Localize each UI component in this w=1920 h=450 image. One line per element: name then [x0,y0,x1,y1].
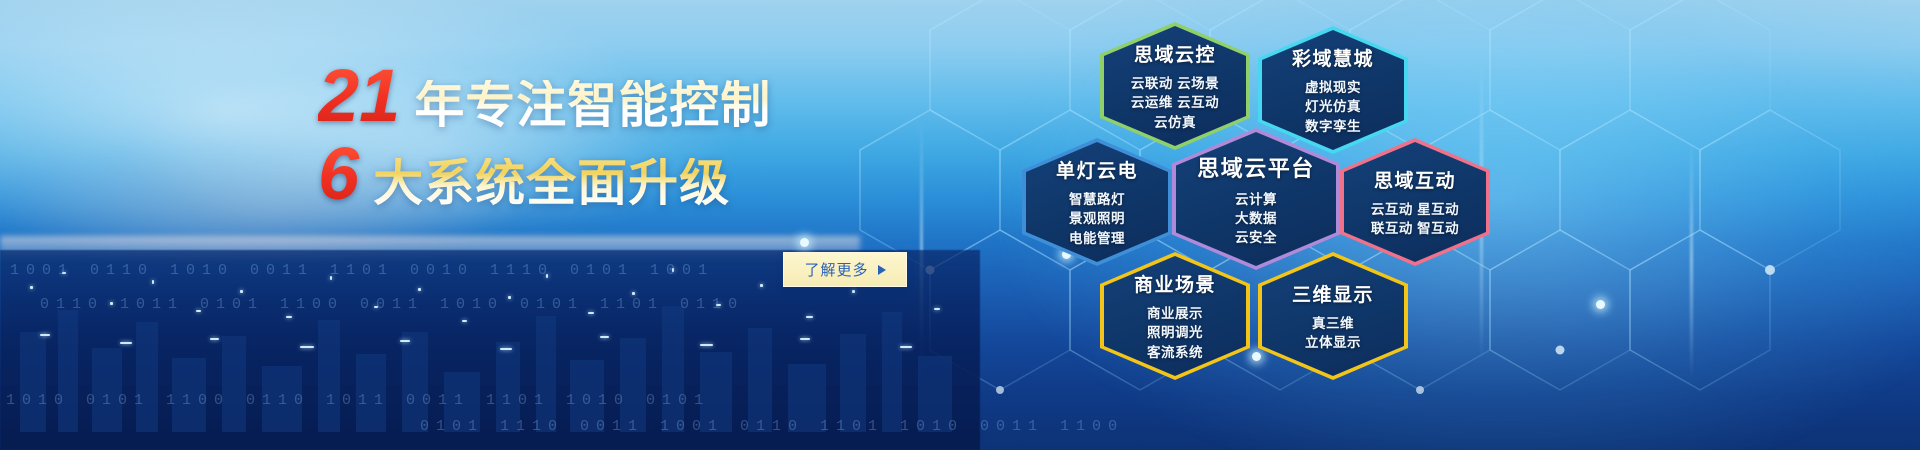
hexagon-subitem: 景观照明 [1069,209,1125,228]
hexagon-subitem: 大数据 [1235,209,1277,228]
promo-banner: 1001 0110 1010 0011 1101 0010 1110 0101 … [0,0,1920,450]
hexagon-title: 思域云平台 [1197,151,1315,183]
hexagon-subitem: 电能管理 [1069,229,1125,248]
hexagon-subitem: 云互动 星互动 [1371,200,1459,219]
hexagon-subitems: 云联动 云场景 云运维 云互动 云仿真 [1131,74,1219,131]
hexagon-title: 商业场景 [1134,270,1216,297]
hexagon-subitem: 商业展示 [1147,304,1203,323]
hexagon-title: 思域云控 [1134,40,1216,67]
hexagon-title: 三维显示 [1292,280,1374,307]
hexagon-subitem: 云计算 [1235,190,1277,209]
hexagon-subitems: 智慧路灯 景观照明 电能管理 [1069,190,1125,247]
hexagon-siyu-cloud-platform[interactable]: 思域云平台 云计算 大数据 云安全 [1172,128,1340,270]
hexagon-subitem: 云运维 云互动 [1131,93,1219,112]
hexagon-cluster: 思域云控 云联动 云场景 云运维 云互动 云仿真 彩域慧城 虚拟现实 灯光仿真 … [0,0,1920,450]
hexagon-subitem: 智慧路灯 [1069,190,1125,209]
hexagon-subitems: 云计算 大数据 云安全 [1235,190,1277,247]
hexagon-subitem: 真三维 [1305,314,1361,333]
hexagon-subitem: 虚拟现实 [1305,78,1361,97]
hexagon-subitem: 立体显示 [1305,333,1361,352]
hexagon-subitem: 联互动 智互动 [1371,219,1459,238]
hexagon-subitem: 云安全 [1235,228,1277,247]
hexagon-title: 单灯云电 [1056,156,1138,183]
hexagon-subitems: 真三维 立体显示 [1305,314,1361,352]
hexagon-title: 彩域慧城 [1292,44,1374,71]
hexagon-title: 思域互动 [1374,166,1456,193]
hexagon-single-lamp-cloud-power[interactable]: 单灯云电 智慧路灯 景观照明 电能管理 [1022,138,1172,266]
hexagon-siyu-interactive[interactable]: 思域互动 云互动 星互动 联互动 智互动 [1340,138,1490,266]
hexagon-subitems: 商业展示 照明调光 客流系统 [1147,304,1203,361]
hexagon-subitem: 客流系统 [1147,343,1203,362]
hexagon-3d-display[interactable]: 三维显示 真三维 立体显示 [1258,252,1408,380]
hexagon-subitems: 云互动 星互动 联互动 智互动 [1371,200,1459,238]
hexagon-subitem: 照明调光 [1147,323,1203,342]
hexagon-commercial-scene[interactable]: 商业场景 商业展示 照明调光 客流系统 [1100,252,1250,380]
hexagon-subitem: 灯光仿真 [1305,97,1361,116]
hexagon-subitem: 云联动 云场景 [1131,74,1219,93]
